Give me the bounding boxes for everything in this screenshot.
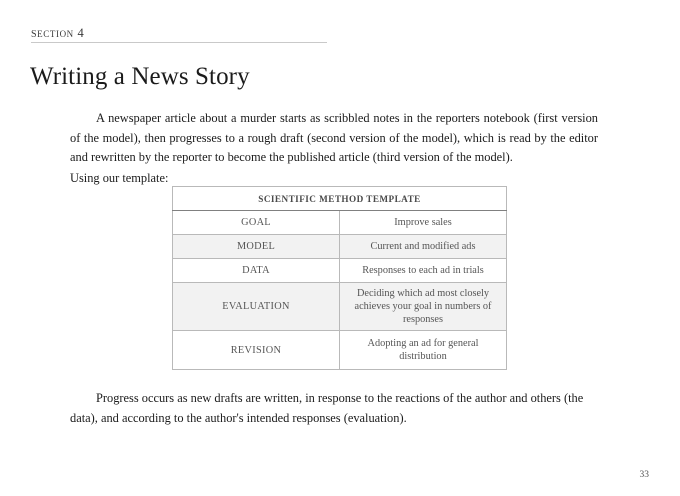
table-cell-label: MODEL xyxy=(173,235,340,259)
table-cell-value: Responses to each ad in trials xyxy=(340,259,507,283)
table-cell-label: GOAL xyxy=(173,211,340,235)
table-row: REVISION Adopting an ad for general dist… xyxy=(173,331,507,370)
page-title: Writing a News Story xyxy=(30,61,250,93)
title-divider-rule xyxy=(31,42,327,43)
table-header-row: SCIENTIFIC METHOD TEMPLATE xyxy=(173,187,507,211)
table-row: DATA Responses to each ad in trials xyxy=(173,259,507,283)
table-cell-value: Current and modified ads xyxy=(340,235,507,259)
table-row: MODEL Current and modified ads xyxy=(173,235,507,259)
table-title-cell: SCIENTIFIC METHOD TEMPLATE xyxy=(173,187,507,211)
body-paragraph-1-text: A newspaper article about a murder start… xyxy=(70,111,598,164)
table-cell-label: REVISION xyxy=(173,331,340,370)
table-cell-label: DATA xyxy=(173,259,340,283)
lead-in-text: Using our template: xyxy=(70,169,168,188)
table-cell-value: Deciding which ad most closely achieves … xyxy=(340,283,507,331)
table-cell-value: Adopting an ad for general distribution xyxy=(340,331,507,370)
page-number: 33 xyxy=(640,470,650,480)
body-paragraph-1: A newspaper article about a murder start… xyxy=(70,109,598,167)
body-paragraph-2-text: Progress occurs as new drafts are writte… xyxy=(70,391,583,424)
table-head: SCIENTIFIC METHOD TEMPLATE xyxy=(173,187,507,211)
scientific-method-template-table: SCIENTIFIC METHOD TEMPLATE GOAL Improve … xyxy=(172,186,507,370)
section-eyebrow: Section 4 xyxy=(31,25,84,42)
table-cell-label: EVALUATION xyxy=(173,283,340,331)
document-page: Section 4 Writing a News Story A newspap… xyxy=(0,0,680,496)
table-cell-value: Improve sales xyxy=(340,211,507,235)
table-body: GOAL Improve sales MODEL Current and mod… xyxy=(173,211,507,370)
body-paragraph-2: Progress occurs as new drafts are writte… xyxy=(70,389,598,428)
table-row: EVALUATION Deciding which ad most closel… xyxy=(173,283,507,331)
table-row: GOAL Improve sales xyxy=(173,211,507,235)
